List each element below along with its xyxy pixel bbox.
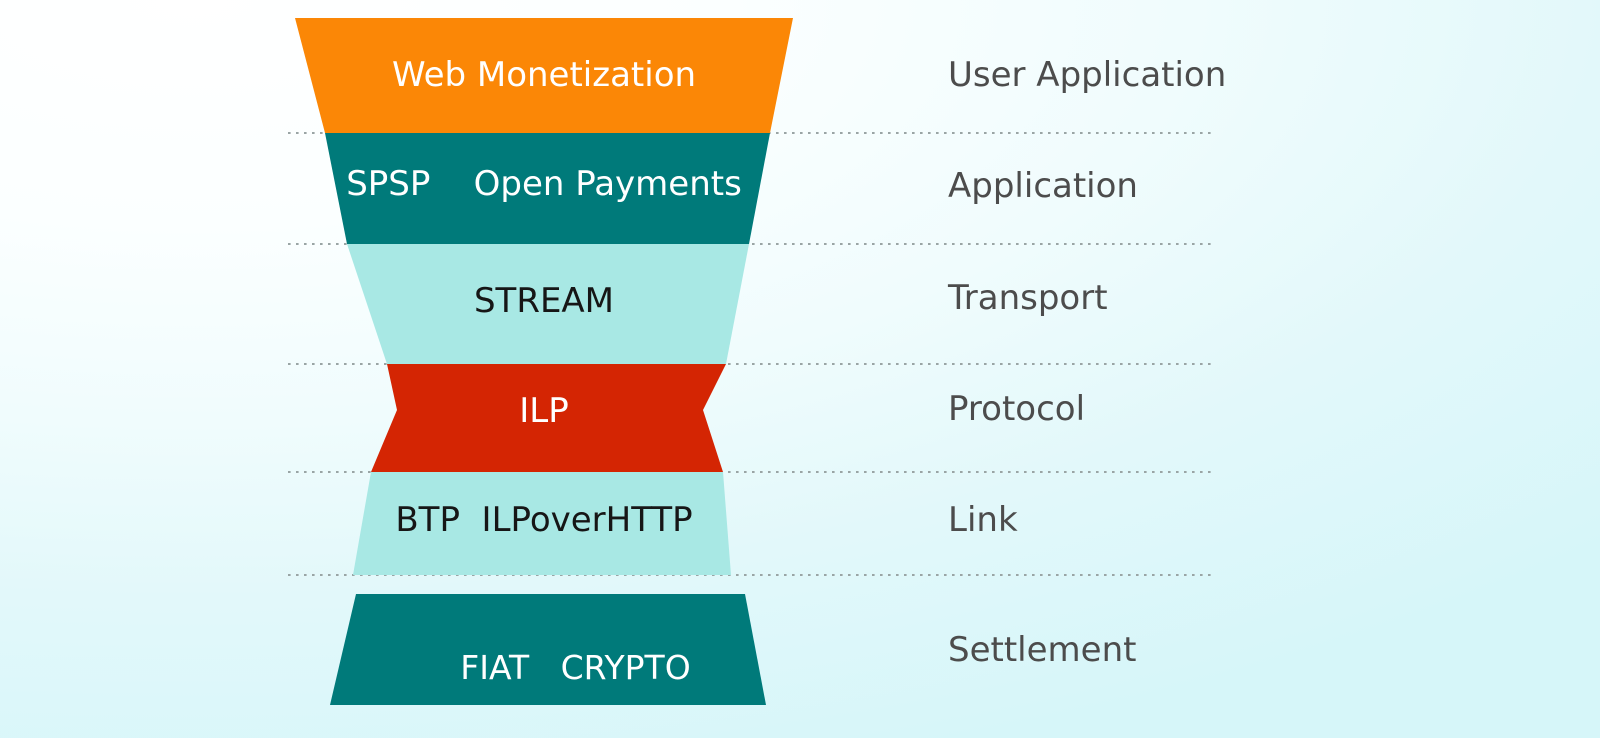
layer-shape-transport[interactable] (347, 244, 749, 364)
layer-shape-link[interactable] (353, 472, 731, 575)
protocol-stack-svg (0, 0, 1600, 738)
diagram-canvas: Web Monetization SPSP Open Payments STRE… (0, 0, 1600, 738)
layer-shape-application[interactable] (325, 133, 770, 244)
layer-shape-web-monetization[interactable] (295, 18, 793, 133)
layer-shape-settlement[interactable] (330, 594, 766, 705)
layer-shape-protocol[interactable] (371, 364, 726, 472)
